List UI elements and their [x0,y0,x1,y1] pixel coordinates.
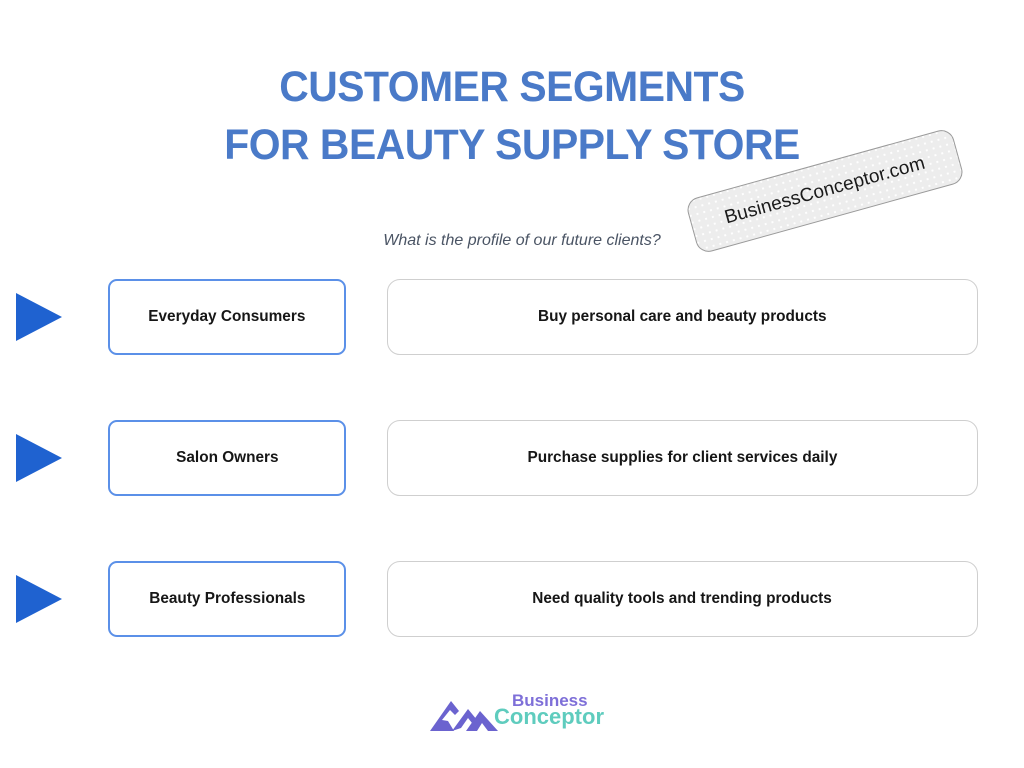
segment-label: Beauty Professionals [149,590,305,608]
description-label: Buy personal care and beauty products [538,308,827,326]
segment-row: Salon Owners Purchase supplies for clien… [0,420,1024,496]
segment-row: Beauty Professionals Need quality tools … [0,561,1024,637]
description-box-2[interactable]: Purchase supplies for client services da… [387,420,978,496]
slide-canvas: CUSTOMER SEGMENTS FOR BEAUTY SUPPLY STOR… [0,0,1024,768]
segment-box-3[interactable]: Beauty Professionals [108,561,346,637]
description-box-3[interactable]: Need quality tools and trending products [387,561,978,637]
description-label: Need quality tools and trending products [533,590,833,608]
logo-word-conceptor: Conceptor [494,705,604,729]
segment-box-2[interactable]: Salon Owners [108,420,346,496]
triangle-right-icon [16,293,62,341]
title-line-1: CUSTOMER SEGMENTS [26,58,999,116]
segment-label: Everyday Consumers [148,308,305,326]
triangle-right-icon [16,434,62,482]
description-box-1[interactable]: Buy personal care and beauty products [387,279,978,355]
logo-wordmark: Business Conceptor [494,688,612,738]
segment-label: Salon Owners [176,449,278,467]
description-label: Purchase supplies for client services da… [528,449,838,467]
segment-box-1[interactable]: Everyday Consumers [108,279,346,355]
subtitle-question: What is the profile of our future client… [372,232,672,250]
triangle-right-icon [16,575,62,623]
brand-logo: Business Conceptor [428,688,608,740]
segment-row: Everyday Consumers Buy personal care and… [0,279,1024,355]
